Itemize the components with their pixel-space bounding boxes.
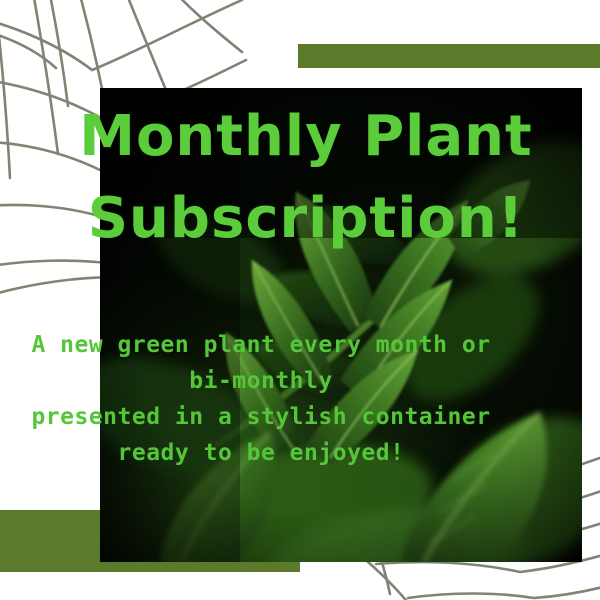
description-text: A new green plant every month or bi-mont… bbox=[0, 327, 522, 471]
top-accent-bar bbox=[298, 44, 600, 68]
page-title: Monthly Plant Subscription! bbox=[56, 96, 556, 260]
poster-canvas: Monthly Plant Subscription! A new green … bbox=[0, 0, 600, 600]
